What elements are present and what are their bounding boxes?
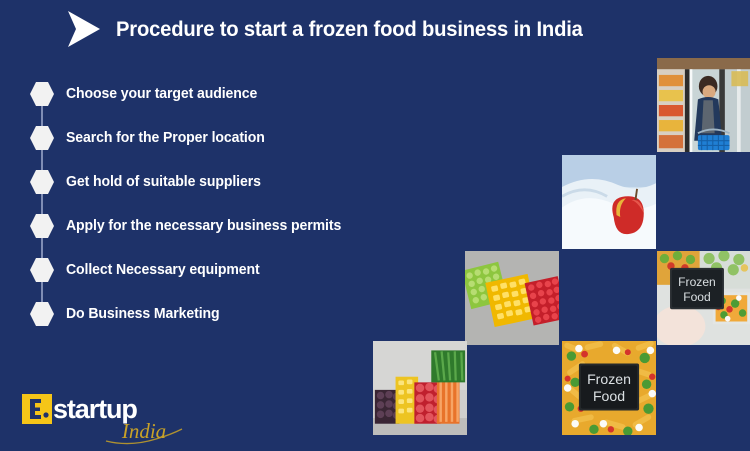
- hexagon-bullet-icon: [28, 300, 56, 328]
- page-title: Procedure to start a frozen food busines…: [116, 17, 583, 42]
- list-item[interactable]: Search for the Proper location: [28, 116, 448, 160]
- header: Procedure to start a frozen food busines…: [0, 0, 750, 58]
- list-item[interactable]: Collect Necessary equipment: [28, 248, 448, 292]
- hexagon-bullet-icon: [28, 124, 56, 152]
- hexagon-bullet-icon: [28, 80, 56, 108]
- step-label: Do Business Marketing: [66, 306, 220, 322]
- svg-text:India: India: [121, 419, 166, 443]
- list-item[interactable]: Do Business Marketing: [28, 292, 448, 336]
- sign-line-1: Frozen: [587, 371, 631, 387]
- logo-script-india: India: [96, 416, 192, 446]
- photo-frozen-produce-stacks: [373, 341, 467, 435]
- photo-frozen-food-chalkboard-vegetables: Frozen Food: [562, 341, 656, 435]
- hexagon-bullet-icon: [28, 212, 56, 240]
- photo-shopper-freezer: [657, 58, 750, 152]
- list-item[interactable]: Choose your target audience: [28, 72, 448, 116]
- step-label: Apply for the necessary business permits: [66, 218, 341, 234]
- sign-line-2: Food: [683, 290, 711, 304]
- logo[interactable]: startup India: [22, 392, 192, 444]
- hexagon-bullet-icon: [28, 168, 56, 196]
- step-label: Get hold of suitable suppliers: [66, 174, 261, 190]
- list-item[interactable]: Get hold of suitable suppliers: [28, 160, 448, 204]
- hexagon-bullet-icon: [28, 256, 56, 284]
- arrow-right-icon: [62, 9, 104, 49]
- photo-frozen-food-chalkboard-containers: Frozen Food: [657, 251, 750, 345]
- sign-line-2: Food: [593, 388, 625, 404]
- step-label: Collect Necessary equipment: [66, 262, 260, 278]
- steps-list: Choose your target audience Search for t…: [28, 72, 448, 336]
- step-label: Search for the Proper location: [66, 130, 265, 146]
- list-item[interactable]: Apply for the necessary business permits: [28, 204, 448, 248]
- step-label: Choose your target audience: [66, 86, 257, 102]
- photo-apple-on-snow: [562, 155, 656, 249]
- sign-line-1: Frozen: [678, 275, 716, 289]
- e-startup-mark-icon: [22, 394, 52, 424]
- photo-frozen-vegetable-blocks: [465, 251, 559, 345]
